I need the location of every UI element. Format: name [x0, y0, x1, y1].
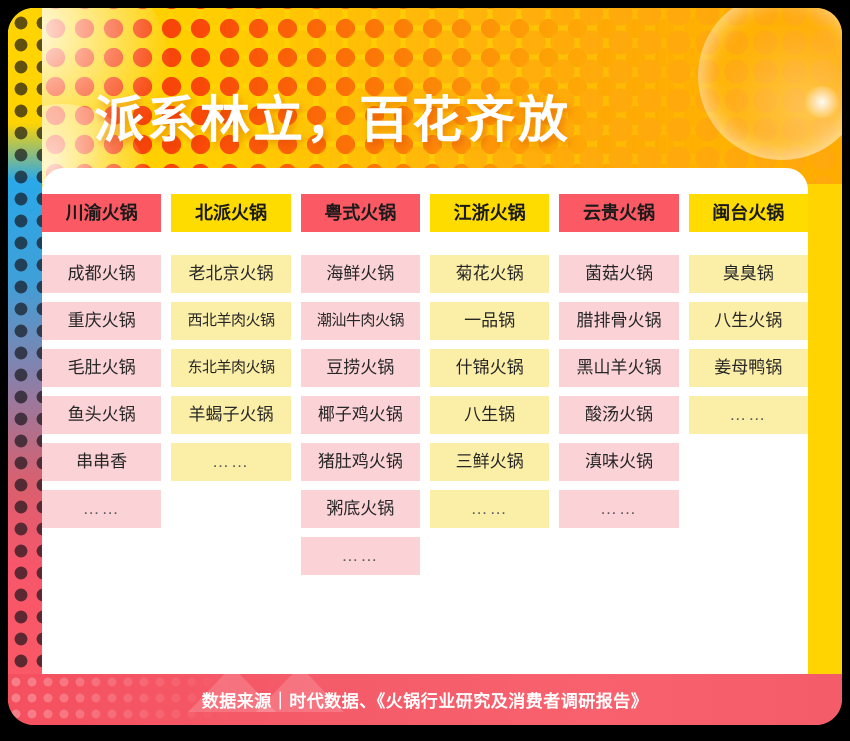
column-header-4: 江浙火锅 — [430, 194, 549, 232]
table-cell: 酸汤火锅 — [559, 396, 678, 434]
table-cell: 豆捞火锅 — [301, 349, 420, 387]
edge-strip-dots-pattern — [8, 8, 42, 725]
table-column: 菊花火锅一品锅什锦火锅八生锅三鲜火锅…… — [430, 255, 549, 575]
left-edge-color-strip — [8, 8, 42, 725]
page-title: 派系林立，百花齐放 — [94, 80, 571, 152]
more-indicator-cell: …… — [689, 396, 808, 434]
table-cell: 八生锅 — [430, 396, 549, 434]
column-header-cell: 粤式火锅 — [301, 194, 420, 232]
table-cell: 成都火锅 — [42, 255, 161, 293]
column-header-3: 粤式火锅 — [301, 194, 420, 232]
column-header-cell: 云贵火锅 — [559, 194, 678, 232]
table-cell: 腊排骨火锅 — [559, 302, 678, 340]
column-header-cell: 闽台火锅 — [689, 194, 808, 232]
more-indicator-cell: …… — [430, 490, 549, 528]
more-indicator-cell: …… — [171, 443, 290, 481]
infographic-poster: 派系林立，百花齐放 川渝火锅北派火锅粤式火锅江浙火锅云贵火锅闽台火锅 成都火锅重… — [0, 0, 850, 741]
table-cell: 菊花火锅 — [430, 255, 549, 293]
table-cell: 猪肚鸡火锅 — [301, 443, 420, 481]
table-cell: 毛肚火锅 — [42, 349, 161, 387]
footer-bar: 数据来源｜时代数据、《火锅行业研究及消费者调研报告》 — [8, 674, 842, 725]
table-cell: 海鲜火锅 — [301, 255, 420, 293]
table-header-row: 川渝火锅北派火锅粤式火锅江浙火锅云贵火锅闽台火锅 — [42, 194, 808, 232]
column-header-cell: 川渝火锅 — [42, 194, 161, 232]
more-indicator-cell: …… — [559, 490, 678, 528]
table-cell: 椰子鸡火锅 — [301, 396, 420, 434]
table-cell: 臭臭锅 — [689, 255, 808, 293]
table-column: 成都火锅重庆火锅毛肚火锅鱼头火锅串串香…… — [42, 255, 161, 575]
table-column: 臭臭锅八生火锅姜母鸭锅…… — [689, 255, 808, 575]
table-cell: 串串香 — [42, 443, 161, 481]
hotpot-schools-table: 川渝火锅北派火锅粤式火锅江浙火锅云贵火锅闽台火锅 成都火锅重庆火锅毛肚火锅鱼头火… — [42, 168, 808, 575]
table-cell: 黑山羊火锅 — [559, 349, 678, 387]
column-header-6: 闽台火锅 — [689, 194, 808, 232]
table-cell: 菌菇火锅 — [559, 255, 678, 293]
poster-canvas: 派系林立，百花齐放 川渝火锅北派火锅粤式火锅江浙火锅云贵火锅闽台火锅 成都火锅重… — [8, 8, 842, 725]
table-column: 菌菇火锅腊排骨火锅黑山羊火锅酸汤火锅滇味火锅…… — [559, 255, 678, 575]
table-cell: 潮汕牛肉火锅 — [301, 302, 420, 340]
table-column: 老北京火锅西北羊肉火锅东北羊肉火锅羊蝎子火锅…… — [171, 255, 290, 575]
column-header-2: 北派火锅 — [171, 194, 290, 232]
table-cell: 粥底火锅 — [301, 490, 420, 528]
data-source-text: 数据来源｜时代数据、《火锅行业研究及消费者调研报告》 — [8, 674, 842, 725]
more-indicator-cell: …… — [42, 490, 161, 528]
column-header-cell: 北派火锅 — [171, 194, 290, 232]
column-header-1: 川渝火锅 — [42, 194, 161, 232]
table-cell: 羊蝎子火锅 — [171, 396, 290, 434]
column-header-5: 云贵火锅 — [559, 194, 678, 232]
header-banner: 派系林立，百花齐放 — [8, 8, 842, 184]
content-card: 川渝火锅北派火锅粤式火锅江浙火锅云贵火锅闽台火锅 成都火锅重庆火锅毛肚火锅鱼头火… — [42, 168, 808, 678]
table-cell: 滇味火锅 — [559, 443, 678, 481]
more-indicator-cell: …… — [301, 537, 420, 575]
table-cell: 一品锅 — [430, 302, 549, 340]
table-cell: 什锦火锅 — [430, 349, 549, 387]
table-cell: 八生火锅 — [689, 302, 808, 340]
column-header-cell: 江浙火锅 — [430, 194, 549, 232]
table-cell: 重庆火锅 — [42, 302, 161, 340]
table-column: 海鲜火锅潮汕牛肉火锅豆捞火锅椰子鸡火锅猪肚鸡火锅粥底火锅…… — [301, 255, 420, 575]
table-cell: 老北京火锅 — [171, 255, 290, 293]
table-cell: 姜母鸭锅 — [689, 349, 808, 387]
table-cell: 西北羊肉火锅 — [171, 302, 290, 340]
table-cell: 鱼头火锅 — [42, 396, 161, 434]
table-cell: 东北羊肉火锅 — [171, 349, 290, 387]
table-cell: 三鲜火锅 — [430, 443, 549, 481]
